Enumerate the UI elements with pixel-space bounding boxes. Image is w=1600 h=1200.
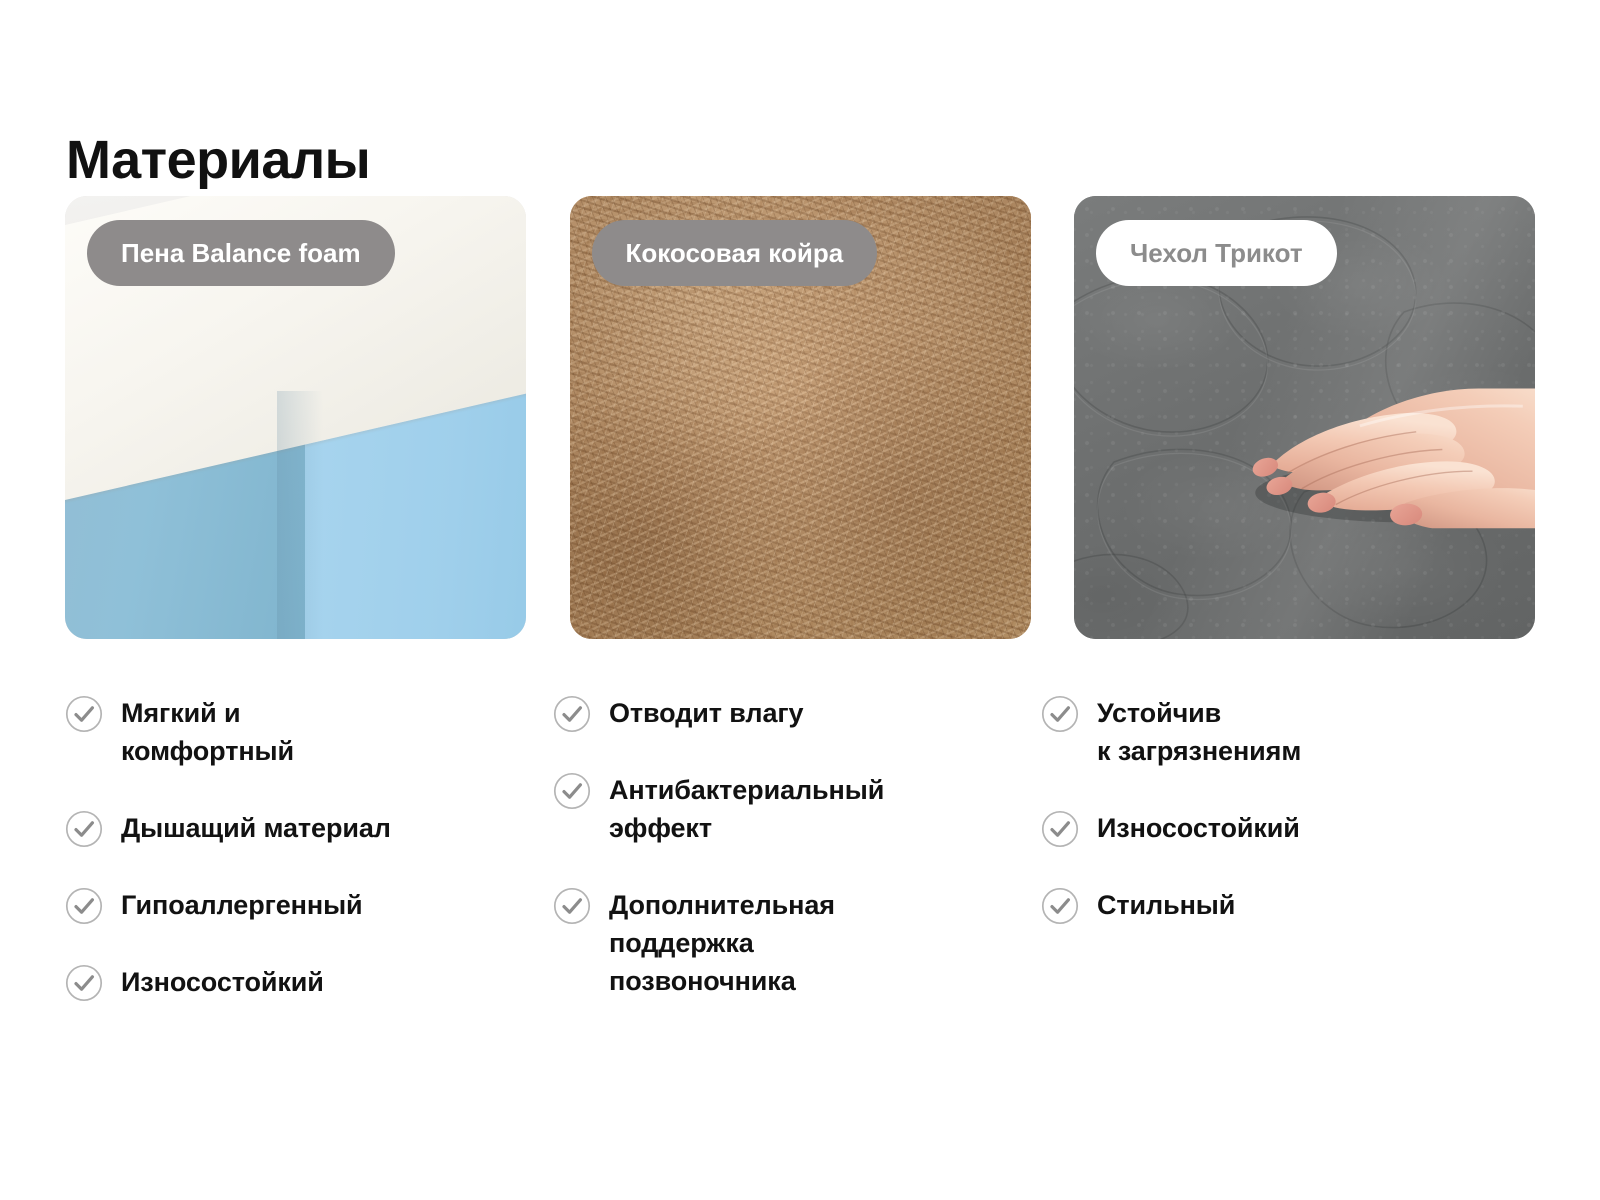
feature-columns: Мягкий и комфортный Дышащий материал Гип… — [65, 694, 1535, 1002]
material-card-coir[interactable]: Кокосовая койра — [570, 196, 1031, 639]
badge-foam: Пена Balance foam — [87, 220, 395, 286]
feature-label: Устойчив к загрязнениям — [1097, 694, 1301, 771]
feature-label: Мягкий и комфортный — [121, 694, 294, 771]
badge-foam-label: Пена Balance foam — [121, 238, 361, 269]
check-circle-icon — [1041, 695, 1079, 733]
check-circle-icon — [553, 887, 591, 925]
feature-item: Мягкий и комфортный — [65, 694, 526, 771]
feature-label: Дышащий материал — [121, 809, 391, 847]
check-circle-icon — [65, 810, 103, 848]
badge-cover-label: Чехол Трикот — [1130, 238, 1303, 269]
materials-slide: Материалы Пена Balance foam — [0, 0, 1600, 1200]
feature-label: Отводит влагу — [609, 694, 803, 732]
check-circle-icon — [65, 887, 103, 925]
feature-item: Устойчив к загрязнениям — [1041, 694, 1502, 771]
check-circle-icon — [1041, 887, 1079, 925]
material-card-cover[interactable]: Чехол Трикот — [1074, 196, 1535, 639]
feature-label: Гипоаллергенный — [121, 886, 363, 924]
feature-item: Антибактериальный эффект — [553, 771, 1014, 848]
feature-column-coir: Отводит влагу Антибактериальный эффект Д… — [553, 694, 1014, 1002]
feature-item: Стильный — [1041, 886, 1502, 925]
badge-cover: Чехол Трикот — [1096, 220, 1337, 286]
badge-coir-label: Кокосовая койра — [626, 238, 844, 269]
material-card-foam[interactable]: Пена Balance foam — [65, 196, 526, 639]
feature-label: Износостойкий — [1097, 809, 1300, 847]
foam-corner-shadow — [277, 391, 323, 639]
feature-column-foam: Мягкий и комфортный Дышащий материал Гип… — [65, 694, 526, 1002]
feature-item: Дополнительная поддержка позвоночника — [553, 886, 1014, 1001]
check-circle-icon — [553, 772, 591, 810]
feature-label: Износостойкий — [121, 963, 324, 1001]
feature-label: Дополнительная поддержка позвоночника — [609, 886, 835, 1001]
badge-coir: Кокосовая койра — [592, 220, 878, 286]
hand-photo — [1209, 355, 1535, 532]
feature-label: Стильный — [1097, 886, 1235, 924]
feature-column-cover: Устойчив к загрязнениям Износостойкий Ст… — [1041, 694, 1502, 1002]
feature-item: Отводит влагу — [553, 694, 1014, 733]
feature-label: Антибактериальный эффект — [609, 771, 884, 848]
check-circle-icon — [1041, 810, 1079, 848]
feature-item: Износостойкий — [1041, 809, 1502, 848]
check-circle-icon — [65, 695, 103, 733]
page-title: Материалы — [66, 132, 370, 189]
feature-item: Дышащий материал — [65, 809, 526, 848]
check-circle-icon — [65, 964, 103, 1002]
feature-item: Гипоаллергенный — [65, 886, 526, 925]
feature-item: Износостойкий — [65, 963, 526, 1002]
check-circle-icon — [553, 695, 591, 733]
material-cards-row: Пена Balance foam Кокосовая койра — [65, 196, 1535, 639]
